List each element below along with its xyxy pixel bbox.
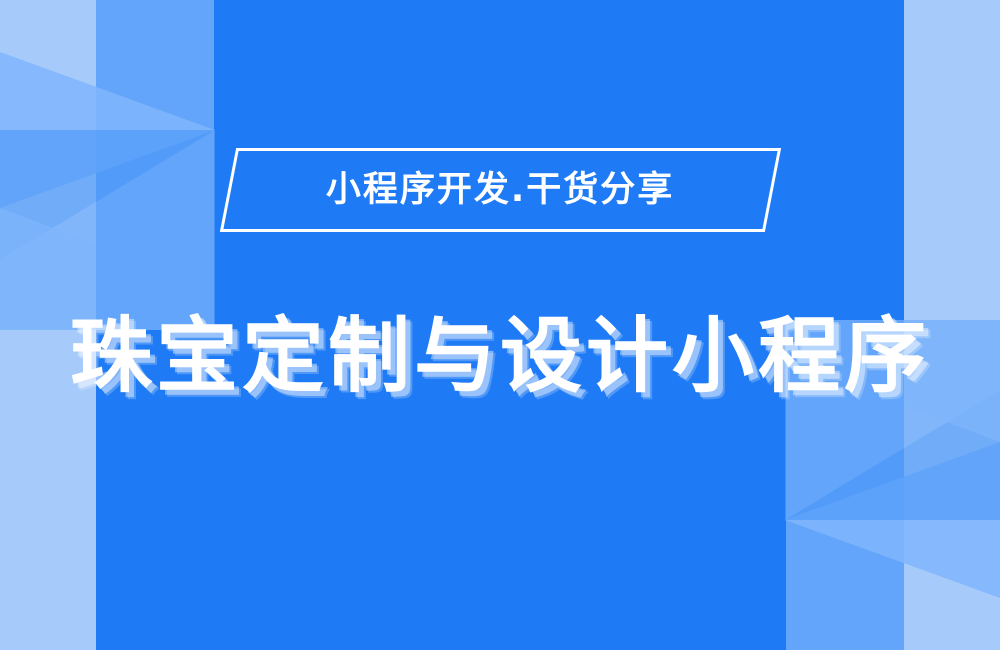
subtitle-badge: 小程序开发.干货分享: [219, 148, 780, 232]
subtitle-text: 小程序开发.干货分享: [326, 173, 674, 208]
promo-banner: 小程序开发.干货分享 珠宝定制与设计小程序: [0, 0, 1000, 650]
page-title: 珠宝定制与设计小程序: [70, 311, 930, 403]
banner-content: 小程序开发.干货分享 珠宝定制与设计小程序: [0, 0, 1000, 650]
subtitle-badge-wrap: 小程序开发.干货分享: [0, 148, 1000, 232]
title-wrap: 珠宝定制与设计小程序: [0, 256, 1000, 458]
